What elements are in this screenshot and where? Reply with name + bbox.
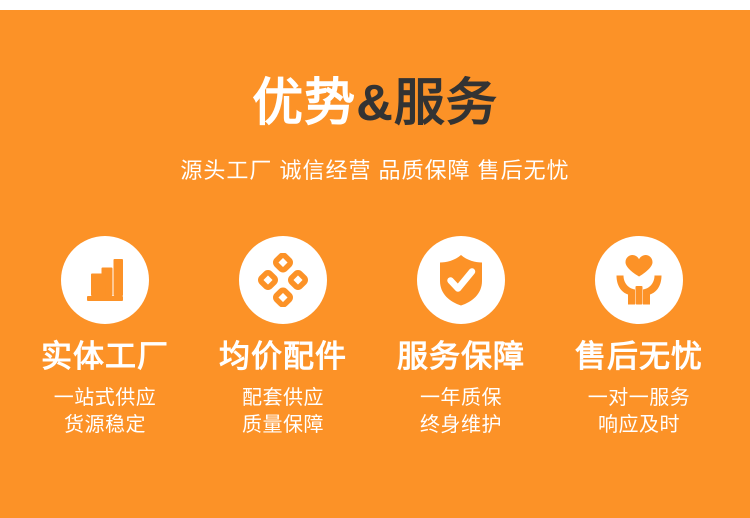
feature-line-1: 一年质保	[420, 385, 502, 412]
feature-item-factory: 实体工厂 一站式供应 货源稳定	[16, 236, 194, 439]
feature-title: 售后无忧	[575, 341, 703, 372]
feature-line-1: 配套供应	[242, 385, 324, 412]
feature-line-1: 一对一服务	[588, 385, 691, 412]
feature-title: 实体工厂	[41, 341, 169, 372]
diamond-parts-icon	[239, 236, 327, 324]
feature-line-2: 终身维护	[420, 412, 502, 439]
feature-description: 配套供应 质量保障	[242, 385, 324, 439]
feature-item-aftersales: 售后无忧 一对一服务 响应及时	[550, 236, 728, 439]
page-title-secondary: &服务	[356, 74, 498, 131]
feature-line-1: 一站式供应	[54, 385, 157, 412]
page-subtitle: 源头工厂 诚信经营 品质保障 售后无忧	[0, 160, 750, 182]
factory-icon	[61, 236, 149, 324]
promo-banner: 优势&服务 源头工厂 诚信经营 品质保障 售后无忧 实体	[0, 5, 750, 518]
feature-line-2: 质量保障	[242, 412, 324, 439]
feature-line-2: 响应及时	[588, 412, 691, 439]
feature-line-2: 货源稳定	[54, 412, 157, 439]
shield-check-icon	[417, 236, 505, 324]
feature-description: 一年质保 终身维护	[420, 385, 502, 439]
feature-description: 一对一服务 响应及时	[588, 385, 691, 439]
top-white-strip	[0, 5, 750, 10]
feature-list: 实体工厂 一站式供应 货源稳定 均价配件 配套供应	[0, 236, 750, 439]
feature-title: 服务保障	[397, 341, 525, 372]
feature-description: 一站式供应 货源稳定	[54, 385, 157, 439]
feature-title: 均价配件	[219, 341, 347, 372]
feature-item-service: 服务保障 一年质保 终身维护	[372, 236, 550, 439]
heart-hands-icon	[595, 236, 683, 324]
feature-item-parts: 均价配件 配套供应 质量保障	[194, 236, 372, 439]
page-title-primary: 优势	[252, 74, 356, 131]
page-title: 优势&服务	[0, 77, 750, 128]
